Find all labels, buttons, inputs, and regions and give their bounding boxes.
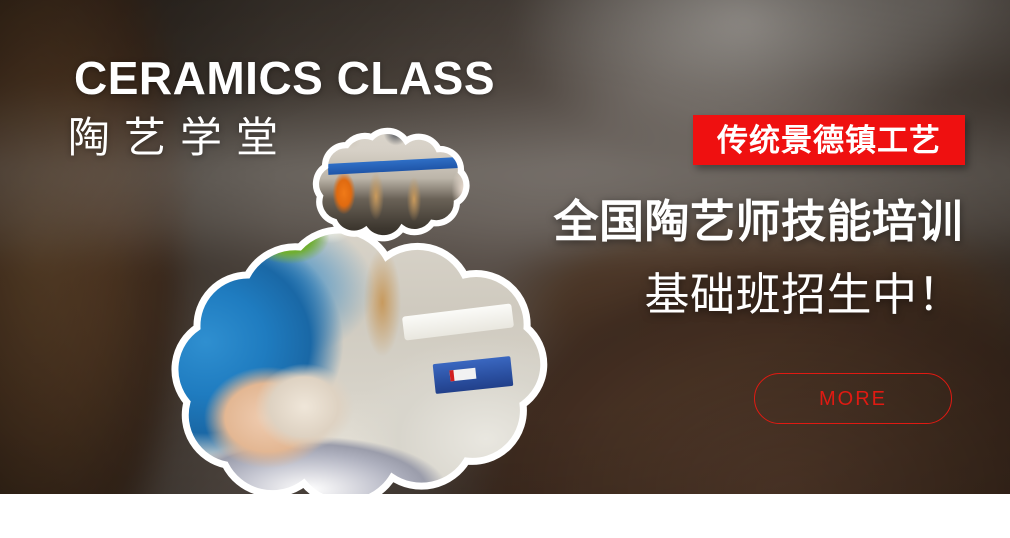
main-cloud-frame: [176, 231, 543, 502]
status-badge-label: 传统景德镇工艺: [717, 125, 941, 156]
page-title-english: CERAMICS CLASS: [74, 55, 495, 101]
promo-headline-primary: 全国陶艺师技能培训: [553, 199, 963, 244]
promo-headline-secondary: 基础班招生中！: [644, 272, 963, 317]
more-button-label: MORE: [819, 389, 887, 409]
ceramics-class-banner: CERAMICS CLASS 陶艺学堂 传统景德镇工艺 全国陶艺师技能培训 基础…: [0, 0, 1010, 538]
bottom-white-bar: [0, 494, 1010, 538]
status-badge: 传统景德镇工艺: [693, 115, 965, 165]
more-button[interactable]: MORE: [754, 373, 952, 424]
page-title-chinese: 陶艺学堂: [68, 116, 292, 160]
